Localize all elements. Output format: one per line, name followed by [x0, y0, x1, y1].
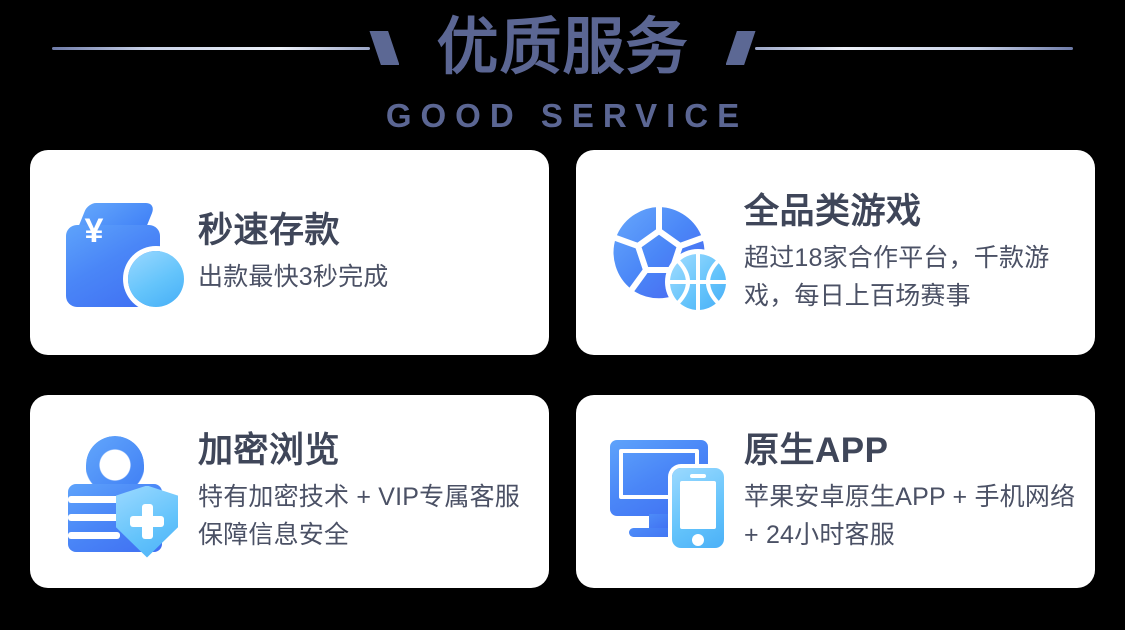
plus-icon	[142, 504, 153, 539]
feature-card-instant-deposit[interactable]: ¥ 秒速存款 出款最快3秒完成	[30, 150, 549, 355]
decoration-slash-right-icon	[726, 31, 756, 65]
card-title: 秒速存款	[198, 209, 531, 253]
card-title: 加密浏览	[198, 429, 531, 473]
card-description: 苹果安卓原生APP + 手机网络 + 24小时客服	[744, 478, 1077, 554]
feature-card-grid: ¥ 秒速存款 出款最快3秒完成	[30, 150, 1095, 588]
card-text-block: 加密浏览 特有加密技术 + VIP专属客服保障信息安全	[198, 429, 531, 554]
basketball-seams-icon	[670, 254, 726, 310]
lock-shield-icon	[58, 428, 190, 556]
phone-speaker-icon	[690, 474, 706, 478]
soccer-ball-icon	[606, 199, 732, 311]
header-decoration-right	[705, 31, 1073, 65]
card-text-block: 原生APP 苹果安卓原生APP + 手机网络 + 24小时客服	[744, 429, 1077, 554]
card-description: 出款最快3秒完成	[198, 258, 531, 296]
lock-slit-icon	[68, 496, 120, 503]
yuan-symbol-icon: ¥	[66, 203, 122, 259]
phone-screen-icon	[680, 481, 716, 529]
page-header: 优质服务 GOOD SERVICE	[0, 0, 1125, 146]
header-decoration-left	[52, 31, 420, 65]
decoration-slash-left-icon	[369, 31, 399, 65]
card-title: 全品类游戏	[744, 190, 1077, 234]
yuan-coin-icon	[128, 251, 184, 307]
feature-card-all-category-games[interactable]: 全品类游戏 超过18家合作平台，千款游戏，每日上百场赛事	[576, 150, 1095, 355]
card-title: 原生APP	[744, 429, 1077, 473]
feature-card-native-app[interactable]: 原生APP 苹果安卓原生APP + 手机网络 + 24小时客服	[576, 395, 1095, 588]
card-text-block: 秒速存款 出款最快3秒完成	[198, 209, 531, 296]
feature-card-encrypted-browsing[interactable]: 加密浏览 特有加密技术 + VIP专属客服保障信息安全	[30, 395, 549, 588]
monitor-phone-icon	[604, 428, 736, 556]
wallet-yuan-icon: ¥	[58, 189, 190, 317]
decoration-line-right-icon	[755, 47, 1073, 50]
page-subtitle: GOOD SERVICE	[0, 96, 1125, 136]
card-description: 特有加密技术 + VIP专属客服保障信息安全	[198, 478, 531, 554]
header-title-row: 优质服务	[0, 0, 1125, 96]
phone-home-button-icon	[692, 534, 704, 546]
page-title: 优质服务	[420, 17, 704, 79]
lock-slit-icon	[68, 532, 120, 539]
decoration-line-left-icon	[52, 47, 370, 50]
card-text-block: 全品类游戏 超过18家合作平台，千款游戏，每日上百场赛事	[744, 190, 1077, 315]
card-description: 超过18家合作平台，千款游戏，每日上百场赛事	[744, 239, 1077, 315]
soccer-basketball-icon	[604, 189, 736, 317]
